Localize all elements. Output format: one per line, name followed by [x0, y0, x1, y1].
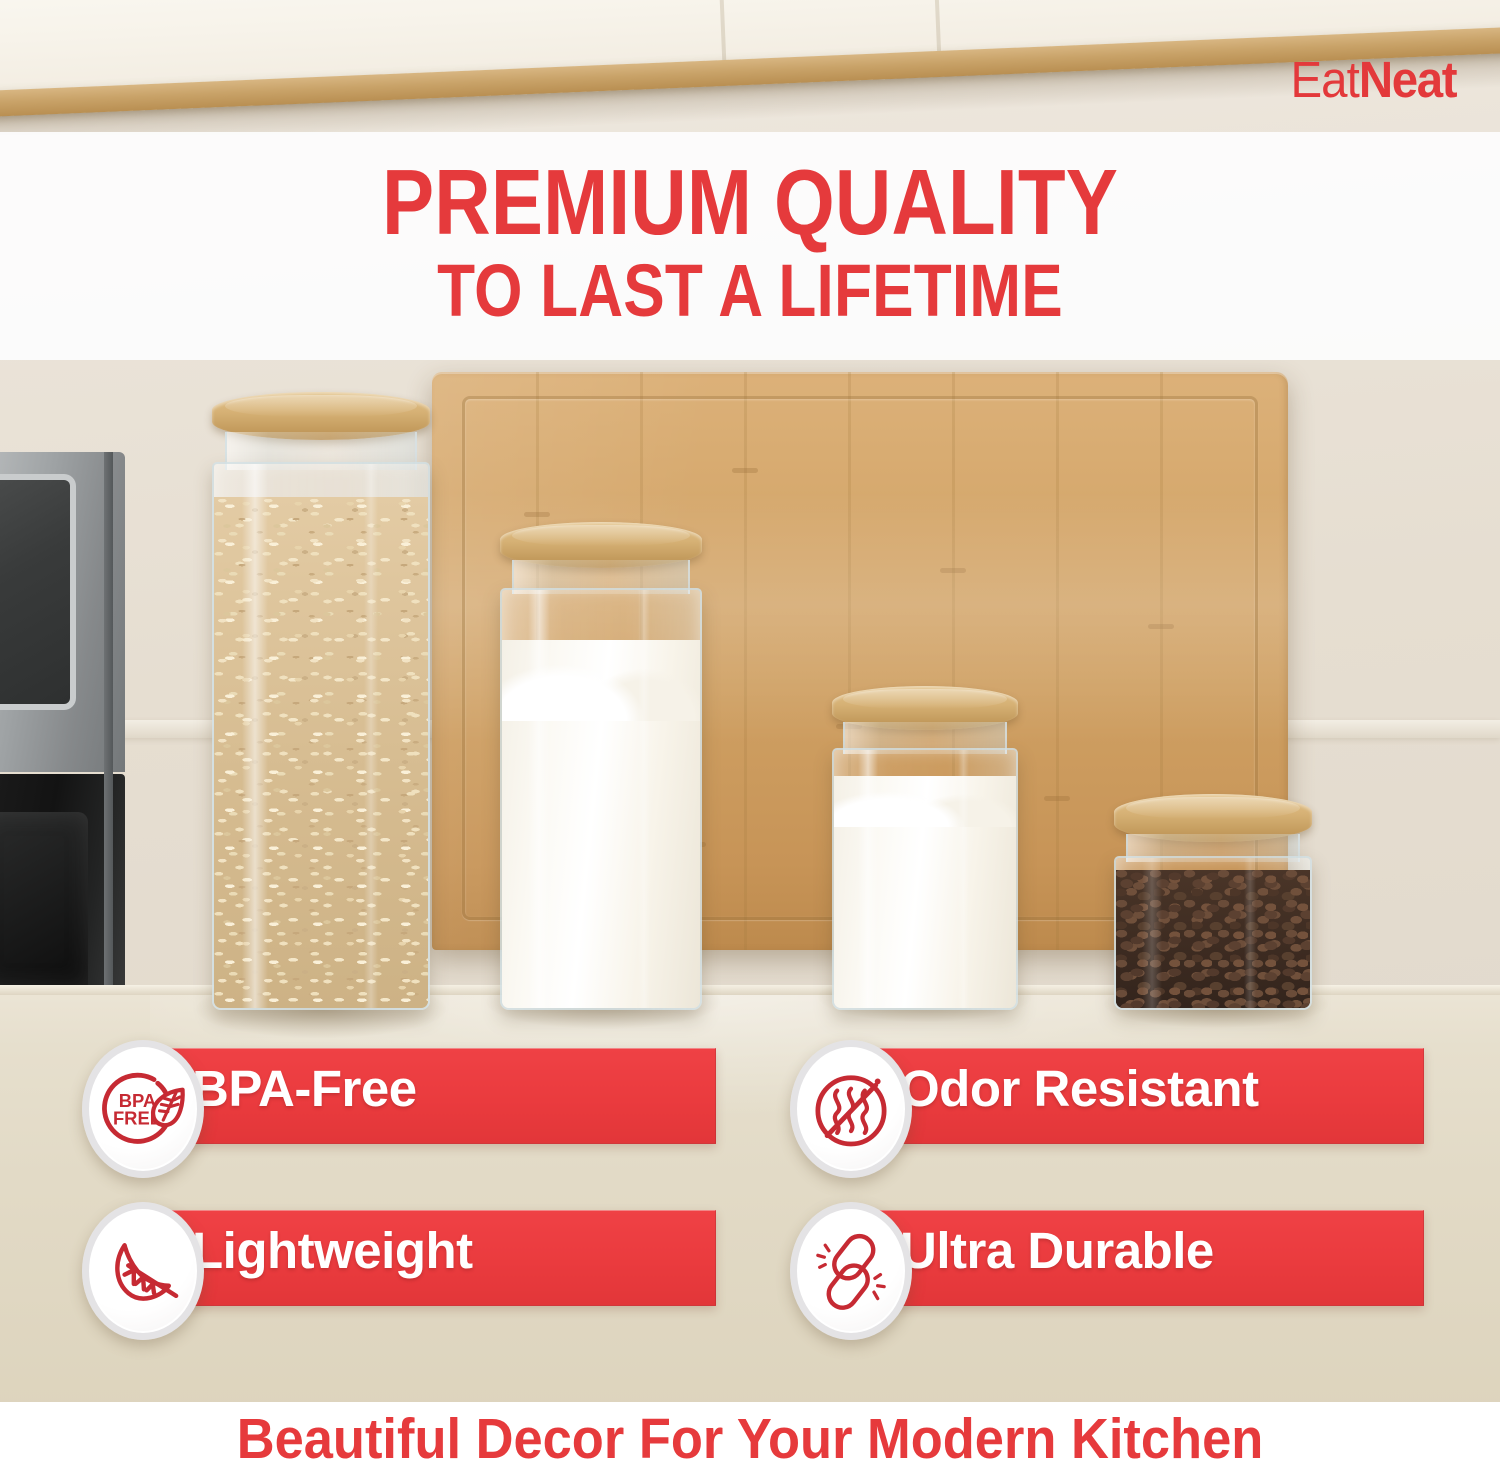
jar-glass-body: [212, 462, 430, 1010]
jar-glass-body: [500, 588, 702, 1010]
brand-logo: EatNeat: [1290, 54, 1456, 105]
feature-label: Ultra Durable: [900, 1202, 1214, 1298]
feature-badge-group: BPA-Free BPA FREE: [0, 1026, 1500, 1366]
small-glass-canister: [1114, 794, 1312, 1010]
feature-medallion: [790, 1040, 912, 1178]
stainless-steel-oven: [0, 452, 125, 1012]
feature-medallion: BPA FREE: [82, 1040, 204, 1178]
upper-cabinets: [0, 0, 1500, 135]
medium-glass-canister: [832, 686, 1018, 1010]
jar-contents-coffee-beans: [1116, 870, 1310, 1008]
jar-contents-flour: [502, 640, 700, 1008]
jar-contents-flour: [834, 776, 1016, 1008]
feather-icon: [97, 1225, 189, 1317]
footer-tagline: Beautiful Decor For Your Modern Kitchen: [60, 1406, 1440, 1472]
bpa-free-icon: BPA FREE: [97, 1063, 189, 1155]
jar-contents-oats: [214, 497, 428, 1008]
tall-glass-canister: [212, 392, 430, 1010]
feature-label: Odor Resistant: [900, 1040, 1259, 1136]
feature-label: Lightweight: [192, 1202, 473, 1298]
logo-text-eat: Eat: [1290, 51, 1358, 108]
odor-resistant-icon: [805, 1063, 897, 1155]
product-marketing-image: PREMIUM QUALITY TO LAST A LIFETIME EatNe…: [0, 0, 1500, 1476]
logo-text-neat: Neat: [1359, 51, 1456, 108]
chain-link-icon: [805, 1225, 897, 1317]
feature-label: BPA-Free: [192, 1040, 417, 1136]
feature-medallion: [82, 1202, 204, 1340]
jar-glass-body: [1114, 856, 1312, 1010]
jar-glass-body: [832, 748, 1018, 1010]
headline-line-1: PREMIUM QUALITY: [120, 156, 1380, 249]
large-glass-canister: [500, 522, 702, 1010]
feature-medallion: [790, 1202, 912, 1340]
headline-line-2: TO LAST A LIFETIME: [120, 254, 1380, 328]
